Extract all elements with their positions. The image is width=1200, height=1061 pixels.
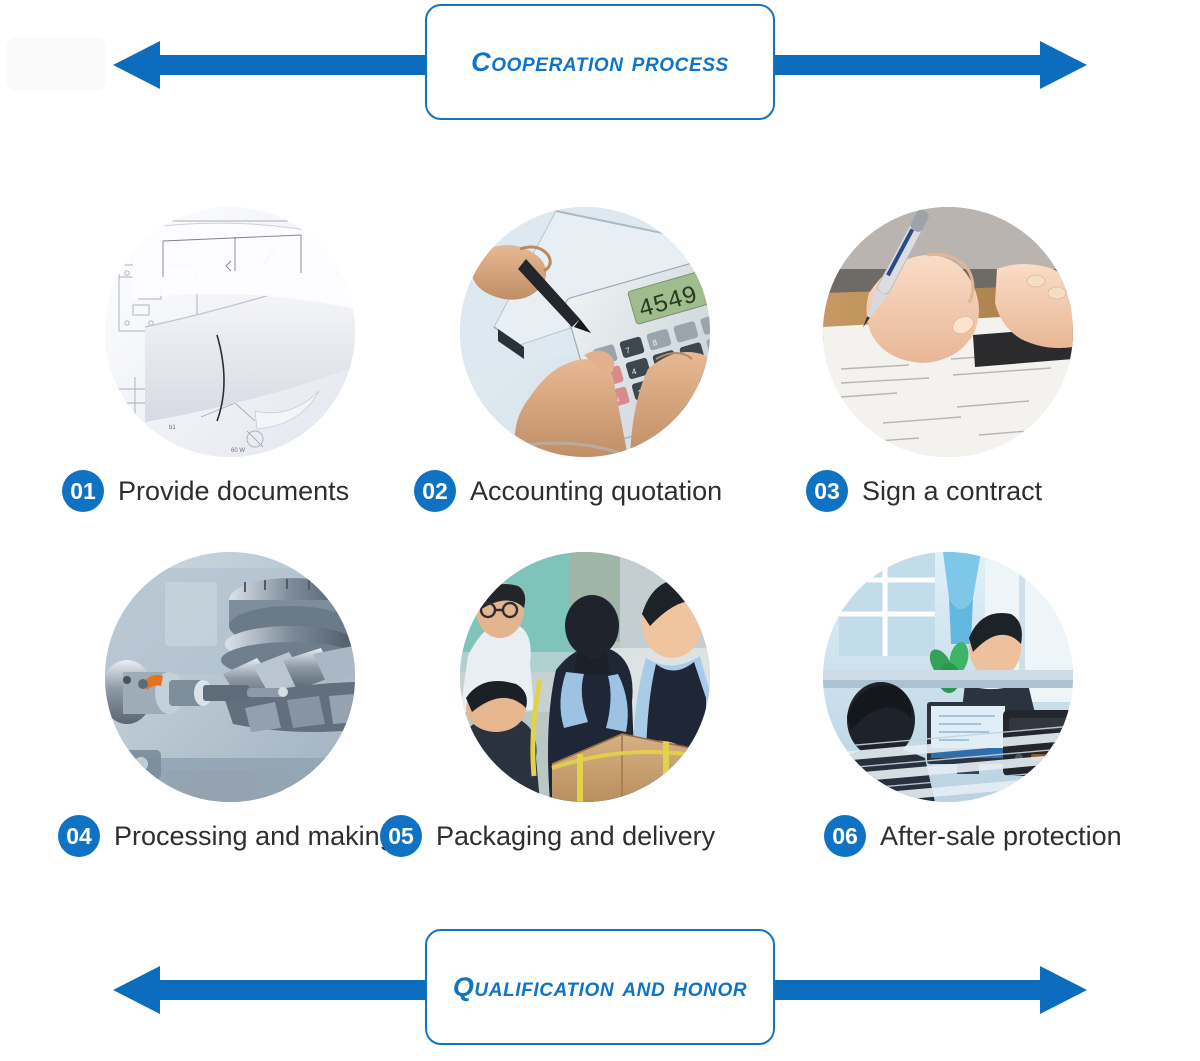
right-arrow-shaft <box>752 980 1042 1000</box>
step-label: Accounting quotation <box>470 478 722 505</box>
cooperation-process-title-box: Cooperation process <box>425 4 775 120</box>
right-arrow-shaft <box>752 55 1042 75</box>
process-step-05[interactable]: 05 Packaging and delivery <box>370 520 770 865</box>
step-label: Provide documents <box>118 478 349 505</box>
cooperation-process-banner: Cooperation process <box>0 0 1200 130</box>
right-arrow-head-icon <box>1040 41 1087 89</box>
cooperation-process-title: Cooperation process <box>471 47 729 78</box>
step-number-badge: 04 <box>58 815 100 857</box>
step-number-badge: 06 <box>824 815 866 857</box>
process-steps-grid: PE b1 60 W drawing <box>0 150 1200 890</box>
step-label: Processing and making <box>114 823 395 850</box>
left-arrow-head-icon <box>113 966 160 1014</box>
process-step-04[interactable]: 04 Processing and making <box>0 520 400 865</box>
step-number-badge: 01 <box>62 470 104 512</box>
hands-calculator-image: 4549 <box>460 207 710 457</box>
workers-packing-boxes-image <box>460 552 710 802</box>
qualification-and-honor-banner: Qualification and honor <box>0 925 1200 1055</box>
process-step-02[interactable]: 4549 <box>370 175 770 520</box>
process-step-03[interactable]: 03 Sign a contract <box>738 175 1138 520</box>
step-label: Packaging and delivery <box>436 823 715 850</box>
process-step-01[interactable]: PE b1 60 W drawing <box>0 175 400 520</box>
rolled-blueprints-image: PE b1 60 W drawing <box>105 207 355 457</box>
right-arrow-head-icon <box>1040 966 1087 1014</box>
step-caption: 06 After-sale protection <box>738 815 1200 857</box>
qualification-and-honor-title-box: Qualification and honor <box>425 929 775 1045</box>
svg-text:b1: b1 <box>169 425 176 431</box>
left-arrow-head-icon <box>113 41 160 89</box>
step-label: After-sale protection <box>880 823 1122 850</box>
qualification-and-honor-title: Qualification and honor <box>453 972 747 1003</box>
hand-signing-contract-image <box>823 207 1073 457</box>
office-support-team-image <box>823 552 1073 802</box>
cnc-machining-image <box>105 552 355 802</box>
left-arrow-shaft <box>158 980 448 1000</box>
step-number-badge: 05 <box>380 815 422 857</box>
step-caption: 05 Packaging and delivery <box>370 815 780 857</box>
step-number-badge: 02 <box>414 470 456 512</box>
svg-text:60 W: 60 W <box>231 448 245 454</box>
process-step-06[interactable]: 06 After-sale protection <box>738 520 1138 865</box>
left-arrow-shaft <box>158 55 448 75</box>
step-caption: 03 Sign a contract <box>738 470 1200 512</box>
step-label: Sign a contract <box>862 478 1042 505</box>
step-number-badge: 03 <box>806 470 848 512</box>
